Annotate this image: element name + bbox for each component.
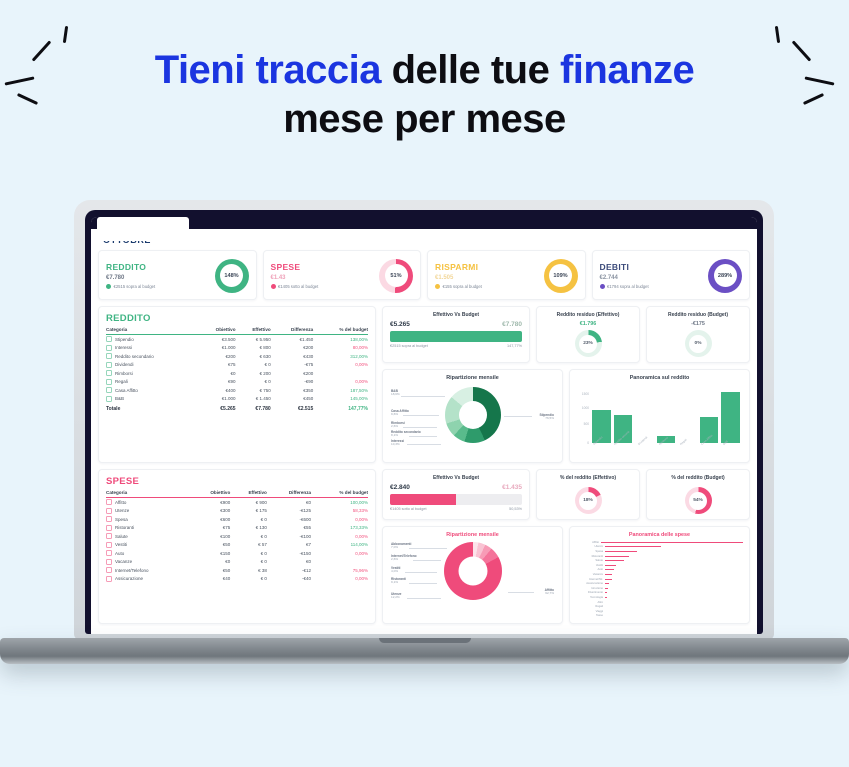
category-icon xyxy=(106,559,112,565)
table-row[interactable]: Spesa€600€ 0-€6000,00% xyxy=(106,515,368,524)
hbar xyxy=(605,579,612,580)
kpi-gauge: 109% xyxy=(544,259,578,293)
cell-differenza: -€600 xyxy=(267,515,311,524)
expense-hbar-chart: AffittoUtenzeSpesaRistorantiSaluteVestit… xyxy=(576,540,743,618)
cell-categoria: Ristoranti xyxy=(106,524,191,533)
cell-differenza: -€125 xyxy=(267,507,311,516)
expense-charts-column: Effettivo Vs Budget €2.840 €1.435 xyxy=(382,469,750,624)
cell-pct xyxy=(311,558,368,567)
cell-categoria: Regali xyxy=(106,378,197,387)
cell-categoria: Vacanze xyxy=(106,558,191,567)
cell-effettivo: € 0 xyxy=(230,549,267,558)
hbar-label: Tecnologia xyxy=(576,596,603,599)
hbar xyxy=(605,565,616,566)
pct-budget-title: % del reddito (Budget) xyxy=(654,475,742,481)
category-icon xyxy=(106,370,112,376)
cell-obiettivo: €50 xyxy=(191,541,231,550)
category-icon xyxy=(106,550,112,556)
cell-effettivo: € 57 xyxy=(230,541,267,550)
laptop-lid: OTTOBRE REDDITO €7.780 €2515 sopra al bu… xyxy=(74,200,774,640)
hbar-label: Ristoranti xyxy=(576,555,603,558)
cell-pct: 58,33% xyxy=(311,507,368,516)
col-obiettivo: Obiettivo xyxy=(191,490,231,498)
cell-pct: 0,00% xyxy=(311,515,368,524)
income-bar-chart: 0 500 1000 1500 StipendioReddito second.… xyxy=(576,383,743,457)
residual-budget-value: -€175 xyxy=(654,321,742,327)
income-section: REDDITO Categoria Obiettivo Effettivo Di… xyxy=(98,306,750,463)
cell-obiettivo: €3.500 xyxy=(197,335,235,344)
table-row[interactable]: Affitto€900€ 900€0100,00% xyxy=(106,498,368,507)
kpi-note-text: €1794 sopra al budget xyxy=(607,284,649,289)
table-row[interactable]: Ristoranti€75€ 130€55173,33% xyxy=(106,524,368,533)
cell-effettivo: € 0 xyxy=(230,532,267,541)
income-charts-row: Ripartizione mensile B&B18,6% xyxy=(382,369,750,463)
leader-line xyxy=(405,572,437,573)
category-icon xyxy=(106,353,112,359)
cell-effettivo: € 200 xyxy=(236,369,271,378)
laptop-base xyxy=(0,638,849,664)
expense-pct-actual-card: % del reddito (Effettivo) 18% xyxy=(536,469,640,520)
donut-legend-5: Affitto62,7% xyxy=(545,588,554,596)
cell-categoria: Dividendi xyxy=(106,361,197,370)
hbar-label: Utenze xyxy=(576,545,603,548)
cell-differenza: -€12 xyxy=(267,566,311,575)
cell-differenza: €0 xyxy=(267,558,311,567)
cell-obiettivo: €50 xyxy=(191,566,231,575)
cell-categoria: Salute xyxy=(106,532,191,541)
kpi-note: €2515 sopra al budget xyxy=(106,284,155,289)
kpi-percent: 109% xyxy=(553,273,567,279)
table-row[interactable]: Utenze€300€ 175-€12558,33% xyxy=(106,507,368,516)
donut-legend-3: Ristoranti9,1% xyxy=(391,577,406,585)
cell-obiettivo: €75 xyxy=(197,361,235,370)
table-row[interactable]: Stipendio€3.500€ 5.950€1.450138,00% xyxy=(106,335,368,344)
col-categoria: Categoria xyxy=(106,327,197,335)
table-row[interactable]: Auto€150€ 0-€1500,00% xyxy=(106,549,368,558)
cell-effettivo: € 0 xyxy=(230,558,267,567)
leader-line xyxy=(407,444,441,445)
cell-effettivo: € 0 xyxy=(230,515,267,524)
sparkle-right-icon xyxy=(760,26,830,86)
kpi-title: SPESE xyxy=(271,262,319,272)
col-categoria: Categoria xyxy=(106,490,191,498)
cell-obiettivo: €90 xyxy=(197,378,235,387)
headline-part-1: Tieni traccia xyxy=(155,48,381,92)
col-obiettivo: Obiettivo xyxy=(197,327,235,335)
vs-budget-title: Effettivo Vs Budget xyxy=(390,475,522,481)
laptop-screen: OTTOBRE REDDITO €7.780 €2515 sopra al bu… xyxy=(91,217,757,634)
col-pct-budget: % del budget xyxy=(311,490,368,498)
kpi-title: REDDITO xyxy=(106,262,155,272)
cell-categoria: Auto xyxy=(106,549,191,558)
table-row[interactable]: Rimborsi€0€ 200€200 xyxy=(106,369,368,378)
cell-categoria: Stipendio xyxy=(106,335,197,344)
expense-charts-row: Ripartizione mensile Abbonamenti7,0% xyxy=(382,526,750,624)
income-title: REDDITO xyxy=(106,313,368,324)
expense-table: Categoria Obiettivo Effettivo Differenza… xyxy=(106,490,368,583)
kpi-card-reddito[interactable]: REDDITO €7.780 €2515 sopra al budget 148… xyxy=(98,250,257,300)
kpi-note: €155 sopra al budget xyxy=(435,284,482,289)
leader-line xyxy=(409,583,437,584)
leader-line xyxy=(409,436,437,437)
income-charts-column: Effettivo Vs Budget €5.265 €7.780 xyxy=(382,306,750,463)
budget-dashboard: OTTOBRE REDDITO €7.780 €2515 sopra al bu… xyxy=(91,229,757,634)
cell-differenza: -€150 xyxy=(267,549,311,558)
leader-line xyxy=(401,396,445,397)
vs-budget-actual: €5.265 xyxy=(390,321,410,328)
donut-legend-1: Internet/Telefono2,6% xyxy=(391,554,417,562)
expense-pct-budget-card: % del reddito (Budget) 54% xyxy=(646,469,750,520)
cell-pct: 100,00% xyxy=(311,498,368,507)
hbar xyxy=(605,597,607,598)
cell-effettivo: € 630 xyxy=(236,352,271,361)
hbar-label: Internet/Tel. xyxy=(576,578,603,581)
cell-effettivo: € 750 xyxy=(236,386,271,395)
cell-differenza: -€40 xyxy=(267,575,311,584)
pct-budget-gauge: 54% xyxy=(685,487,712,514)
sparkle-left-icon xyxy=(18,26,88,86)
cell-obiettivo: €300 xyxy=(191,507,231,516)
table-row[interactable]: Vestiti€50€ 57€7114,00% xyxy=(106,541,368,550)
cell-differenza: €350 xyxy=(271,386,314,395)
expense-vs-budget-card: Effettivo Vs Budget €2.840 €1.435 xyxy=(382,469,530,520)
bar-chart-title: Panoramica sul reddito xyxy=(576,375,743,381)
cell-pct: 0,00% xyxy=(311,532,368,541)
expense-donut-card: Ripartizione mensile Abbonamenti7,0% xyxy=(382,526,563,624)
vs-budget-note-left: €1405 sotto al budget xyxy=(390,507,427,511)
cell-categoria: Spesa xyxy=(106,515,191,524)
hbar xyxy=(605,560,624,561)
tab-ottobre[interactable] xyxy=(97,217,189,241)
kpi-row: REDDITO €7.780 €2515 sopra al budget 148… xyxy=(98,250,750,300)
hbar-label: Assicurazione xyxy=(576,582,603,585)
donut-legend-4: Interessi10,3% xyxy=(391,439,404,447)
kpi-amount: €1.43 xyxy=(271,275,319,281)
kpi-note: €1405 sotto al budget xyxy=(271,284,319,289)
cell-categoria: Internet/Telefono xyxy=(106,566,191,575)
status-dot-icon xyxy=(106,284,111,289)
hbar-row: Tasse xyxy=(576,614,743,619)
headline-part-2: delle tue xyxy=(392,48,550,92)
cell-obiettivo: €150 xyxy=(191,549,231,558)
hbar xyxy=(605,556,629,557)
donut-legend-2: Rimborsi2,6% xyxy=(391,421,405,429)
vs-budget-progress xyxy=(390,494,522,505)
category-icon xyxy=(106,533,112,539)
cell-effettivo: € 0 xyxy=(230,575,267,584)
cell-effettivo: € 175 xyxy=(230,507,267,516)
donut-legend-0: B&B18,6% xyxy=(391,389,400,397)
leader-line xyxy=(504,416,532,417)
expense-title: SPESE xyxy=(106,476,368,487)
hbar-label: Viaggi xyxy=(576,610,603,613)
hbar-label: Spesa xyxy=(576,550,603,553)
kpi-gauge: 289% xyxy=(708,259,742,293)
table-row[interactable]: Casa Affitto€400€ 750€350187,50% xyxy=(106,386,368,395)
leader-line xyxy=(407,598,441,599)
total-effettivo: €7.780 xyxy=(236,403,271,413)
donut-legend-0: Abbonamenti7,0% xyxy=(391,542,411,550)
cell-pct: 145,00% xyxy=(313,395,368,404)
income-residual-actual-card: Reddito residuo (Effettivo) €1.796 23% xyxy=(536,306,640,363)
total-obiettivo: €5.265 xyxy=(197,403,235,413)
hbar-label: Salute xyxy=(576,559,603,562)
cell-differenza: €430 xyxy=(271,352,314,361)
laptop-mockup: OTTOBRE REDDITO €7.780 €2515 sopra al bu… xyxy=(74,200,774,660)
hbar-label: Istruzione xyxy=(576,587,603,590)
expense-hbar-chart-card: Panoramica delle spese AffittoUtenzeSpes… xyxy=(569,526,750,624)
cell-pct: 114,00% xyxy=(311,541,368,550)
hbar-label: Regali xyxy=(576,605,603,608)
y-tick-2: 1000 xyxy=(576,406,589,410)
table-row[interactable]: B&B€1.000€ 1.450€450145,00% xyxy=(106,395,368,404)
cell-differenza: €200 xyxy=(271,369,314,378)
cell-categoria: Casa Affitto xyxy=(106,386,197,395)
cell-categoria: Assicurazione xyxy=(106,575,191,584)
income-total-row: Totale €5.265 €7.780 €2.515 147,77% xyxy=(106,403,368,413)
cell-pct: 312,00% xyxy=(313,352,368,361)
income-table-card: REDDITO Categoria Obiettivo Effettivo Di… xyxy=(98,306,376,463)
hbar-label: Affitto xyxy=(576,541,599,544)
donut-title: Ripartizione mensile xyxy=(389,375,556,381)
vs-budget-note-left: €2515 sopra al budget xyxy=(390,344,428,348)
status-dot-icon xyxy=(271,284,276,289)
cell-differenza: €450 xyxy=(271,395,314,404)
category-icon xyxy=(106,396,112,402)
cell-obiettivo: €0 xyxy=(197,369,235,378)
hbar xyxy=(605,588,608,589)
hbar xyxy=(601,542,743,543)
cell-obiettivo: €400 xyxy=(197,386,235,395)
hbar-label: Tasse xyxy=(576,614,603,617)
kpi-card-risparmi[interactable]: RISPARMI €1.505 €155 sopra al budget 109… xyxy=(427,250,586,300)
category-icon xyxy=(106,525,112,531)
category-icon xyxy=(106,336,112,342)
table-row[interactable]: Vacanze€0€ 0€0 xyxy=(106,558,368,567)
category-icon xyxy=(106,516,112,522)
cell-effettivo: € 800 xyxy=(236,344,271,353)
residual-budget-title: Reddito residuo (Budget) xyxy=(654,312,742,318)
vs-budget-note-right: 50,53% xyxy=(509,507,522,511)
laptop-bezel: OTTOBRE REDDITO €7.780 €2515 sopra al bu… xyxy=(85,210,763,634)
category-icon xyxy=(106,508,112,514)
total-label: Totale xyxy=(106,403,197,413)
cell-pct: 0,00% xyxy=(311,575,368,584)
leader-line xyxy=(403,415,439,416)
cell-obiettivo: €1.000 xyxy=(197,344,235,353)
residual-budget-percent: 0% xyxy=(695,341,702,346)
expense-mini-row: Effettivo Vs Budget €2.840 €1.435 xyxy=(382,469,750,520)
hero-headline-area: Tieni traccia delle tue finanze mese per… xyxy=(0,0,849,192)
cell-categoria: Reddito secondario xyxy=(106,352,197,361)
y-tick-1: 500 xyxy=(576,422,589,426)
kpi-percent: 148% xyxy=(224,273,238,279)
income-table: Categoria Obiettivo Effettivo Differenza… xyxy=(106,327,368,413)
residual-actual-gauge: 23% xyxy=(575,330,602,357)
pct-actual-percent: 18% xyxy=(583,498,593,503)
status-dot-icon xyxy=(435,284,440,289)
cell-pct xyxy=(313,369,368,378)
kpi-title: RISPARMI xyxy=(435,262,482,272)
leader-line xyxy=(508,592,534,593)
col-differenza: Differenza xyxy=(267,490,311,498)
vs-budget-budget: €1.435 xyxy=(502,484,522,491)
cell-differenza: €55 xyxy=(267,524,311,533)
hbar xyxy=(605,569,614,570)
vs-budget-note-right: 147,77% xyxy=(507,344,522,348)
cell-effettivo: € 0 xyxy=(236,378,271,387)
total-pct: 147,77% xyxy=(313,403,368,413)
cell-effettivo: € 0 xyxy=(236,361,271,370)
spreadsheet-tab-bar xyxy=(91,217,757,229)
cell-differenza: -€100 xyxy=(267,532,311,541)
kpi-gauge: 148% xyxy=(215,259,249,293)
month-label: OTTOBRE xyxy=(98,234,750,250)
cell-differenza: €7 xyxy=(267,541,311,550)
residual-budget-gauge: 0% xyxy=(685,330,712,357)
category-icon xyxy=(106,567,112,573)
hbar xyxy=(605,546,661,547)
cell-pct: 0,00% xyxy=(313,378,368,387)
cell-obiettivo: €200 xyxy=(197,352,235,361)
cell-differenza: €200 xyxy=(271,344,314,353)
cell-categoria: Affitto xyxy=(106,498,191,507)
category-icon xyxy=(106,576,112,582)
cell-categoria: Vestiti xyxy=(106,541,191,550)
cell-differenza: -€75 xyxy=(271,361,314,370)
cell-obiettivo: €1.000 xyxy=(197,395,235,404)
vs-budget-progress xyxy=(390,331,522,342)
cell-pct: 75,96% xyxy=(311,566,368,575)
table-row[interactable]: Regali€90€ 0-€900,00% xyxy=(106,378,368,387)
kpi-card-debiti[interactable]: DEBITI €2.744 €1794 sopra al budget 289% xyxy=(592,250,751,300)
leader-line xyxy=(403,427,437,428)
cell-effettivo: € 38 xyxy=(230,566,267,575)
category-icon xyxy=(106,387,112,393)
hbar xyxy=(605,574,612,575)
cell-effettivo: € 130 xyxy=(230,524,267,533)
expense-donut-chart xyxy=(444,542,502,600)
cell-pct: 80,00% xyxy=(313,344,368,353)
kpi-amount: €2.744 xyxy=(600,275,649,281)
cell-obiettivo: €0 xyxy=(191,558,231,567)
cell-differenza: -€90 xyxy=(271,378,314,387)
table-row[interactable]: Internet/Telefono€50€ 38-€1275,96% xyxy=(106,566,368,575)
kpi-card-spese[interactable]: SPESE €1.43 €1405 sotto al budget 51% xyxy=(263,250,422,300)
vs-budget-budget: €7.780 xyxy=(502,321,522,328)
pct-actual-gauge: 18% xyxy=(575,487,602,514)
hbar-label: Auto xyxy=(576,568,603,571)
hbar-label: Vestiti xyxy=(576,564,603,567)
cell-pct: 187,50% xyxy=(313,386,368,395)
income-residual-budget-card: Reddito residuo (Budget) -€175 0% xyxy=(646,306,750,363)
hbar-chart-title: Panoramica delle spese xyxy=(576,532,743,538)
cell-effettivo: € 5.950 xyxy=(236,335,271,344)
vs-budget-title: Effettivo Vs Budget xyxy=(390,312,522,318)
cell-pct: 173,33% xyxy=(311,524,368,533)
category-icon xyxy=(106,542,112,548)
income-donut-card: Ripartizione mensile B&B18,6% xyxy=(382,369,563,463)
table-row[interactable]: Dividendi€75€ 0-€750,00% xyxy=(106,361,368,370)
kpi-note-text: €2515 sopra al budget xyxy=(114,284,156,289)
donut-title: Ripartizione mensile xyxy=(389,532,556,538)
income-vs-budget-card: Effettivo Vs Budget €5.265 €7.780 xyxy=(382,306,530,363)
page-title: Tieni traccia delle tue finanze mese per… xyxy=(0,0,849,144)
leader-line xyxy=(409,548,447,549)
cell-pct: 138,00% xyxy=(313,335,368,344)
kpi-percent: 51% xyxy=(390,273,401,279)
y-tick-0: 0 xyxy=(576,441,589,445)
col-pct-budget: % del budget xyxy=(313,327,368,335)
cell-categoria: Utenze xyxy=(106,507,191,516)
vs-budget-actual: €2.840 xyxy=(390,484,410,491)
donut-legend-3: Reddito secondario8,1% xyxy=(391,430,421,438)
table-row[interactable]: Salute€100€ 0-€1000,00% xyxy=(106,532,368,541)
category-icon xyxy=(106,362,112,368)
cell-differenza: €1.450 xyxy=(271,335,314,344)
pct-budget-percent: 54% xyxy=(693,498,703,503)
donut-legend-4: Utenze12,2% xyxy=(391,592,401,600)
cell-differenza: €0 xyxy=(267,498,311,507)
donut-legend-2: Vestiti4,0% xyxy=(391,566,400,574)
status-dot-icon xyxy=(600,284,605,289)
category-icon xyxy=(106,345,112,351)
income-bar-chart-card: Panoramica sul reddito 0 500 1000 1500 S… xyxy=(569,369,750,463)
residual-actual-value: €1.796 xyxy=(544,321,632,327)
income-donut-chart xyxy=(445,387,501,443)
cell-obiettivo: €900 xyxy=(191,498,231,507)
headline-part-3: finanze xyxy=(560,48,694,92)
table-row[interactable]: Interessi€1.000€ 800€20080,00% xyxy=(106,344,368,353)
total-differenza: €2.515 xyxy=(271,403,314,413)
col-effettivo: Effettivo xyxy=(230,490,267,498)
residual-actual-percent: 23% xyxy=(583,341,593,346)
hbar-label: Vacanze xyxy=(576,573,603,576)
donut-legend-1: Casa Affitto9,6% xyxy=(391,409,409,417)
table-row[interactable]: Assicurazione€40€ 0-€400,00% xyxy=(106,575,368,584)
col-differenza: Differenza xyxy=(271,327,314,335)
category-icon xyxy=(106,499,112,505)
kpi-note: €1794 sopra al budget xyxy=(600,284,649,289)
expense-section: SPESE Categoria Obiettivo Effettivo Diff… xyxy=(98,469,750,624)
hbar xyxy=(605,583,609,584)
cell-effettivo: € 1.450 xyxy=(236,395,271,404)
kpi-title: DEBITI xyxy=(600,262,649,272)
expense-table-card: SPESE Categoria Obiettivo Effettivo Diff… xyxy=(98,469,376,624)
col-effettivo: Effettivo xyxy=(236,327,271,335)
hbar-label: Altro xyxy=(576,601,603,604)
residual-actual-title: Reddito residuo (Effettivo) xyxy=(544,312,632,318)
kpi-amount: €7.780 xyxy=(106,275,155,281)
leader-line xyxy=(413,560,441,561)
cell-pct: 0,00% xyxy=(313,361,368,370)
hbar xyxy=(605,592,607,593)
cell-obiettivo: €600 xyxy=(191,515,231,524)
cell-pct: 0,00% xyxy=(311,549,368,558)
table-row[interactable]: Reddito secondario€200€ 630€430312,00% xyxy=(106,352,368,361)
kpi-gauge: 51% xyxy=(379,259,413,293)
pct-actual-title: % del reddito (Effettivo) xyxy=(544,475,632,481)
cell-obiettivo: €100 xyxy=(191,532,231,541)
kpi-percent: 289% xyxy=(718,273,732,279)
headline-line-2: mese per mese xyxy=(0,95,849,144)
kpi-note-text: €1405 sotto al budget xyxy=(278,284,318,289)
cell-obiettivo: €40 xyxy=(191,575,231,584)
income-mini-row: Effettivo Vs Budget €5.265 €7.780 xyxy=(382,306,750,363)
kpi-note-text: €155 sopra al budget xyxy=(443,284,482,289)
y-tick-3: 1500 xyxy=(576,392,589,396)
kpi-amount: €1.505 xyxy=(435,275,482,281)
